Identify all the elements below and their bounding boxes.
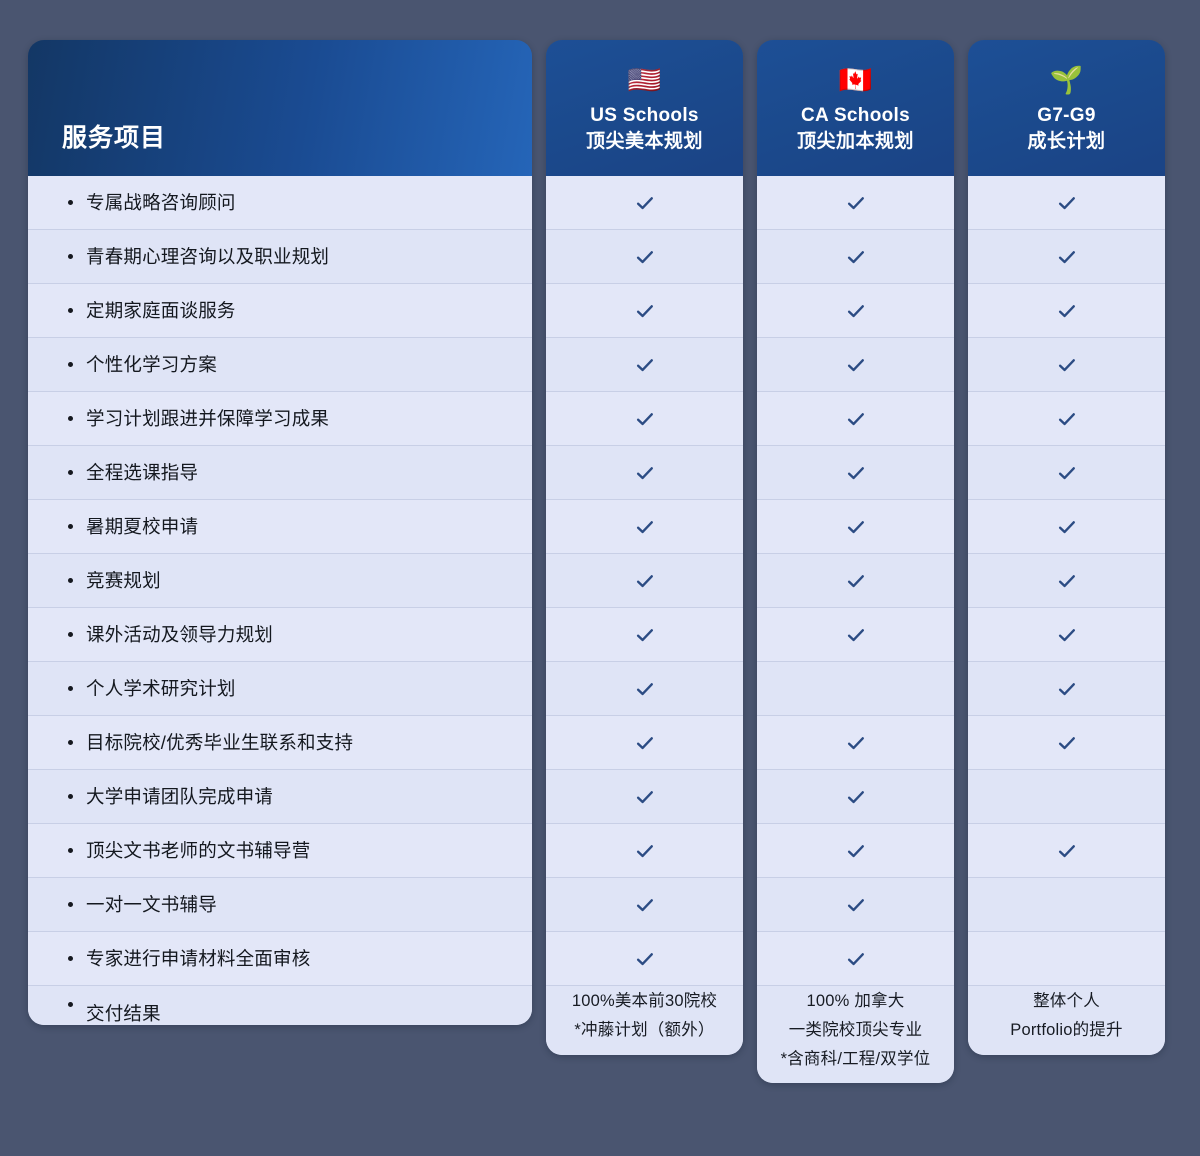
cell-check xyxy=(546,284,743,338)
check-icon xyxy=(845,300,867,322)
feature-row: 个性化学习方案 xyxy=(28,338,532,392)
check-icon xyxy=(845,462,867,484)
features-column-header: 服务项目 xyxy=(28,40,532,176)
cell-check xyxy=(757,392,954,446)
check-icon xyxy=(634,948,656,970)
cell-check xyxy=(968,230,1165,284)
feature-label: 大学申请团队完成申请 xyxy=(86,785,273,808)
canada-flag-icon: 🇨🇦 xyxy=(839,66,873,96)
feature-row: 暑期夏校申请 xyxy=(28,500,532,554)
check-icon xyxy=(845,354,867,376)
feature-label: 全程选课指导 xyxy=(86,461,198,484)
plan-outcome-line: 100%美本前30院校 xyxy=(572,992,717,1012)
check-icon xyxy=(634,246,656,268)
check-icon xyxy=(634,354,656,376)
plan-outcome-line: *冲藤计划（额外） xyxy=(574,1021,714,1041)
check-icon xyxy=(1056,624,1078,646)
check-icon xyxy=(634,840,656,862)
seedling-icon: 🌱 xyxy=(1050,66,1084,96)
feature-label: 一对一文书辅导 xyxy=(86,893,217,916)
cell-check xyxy=(968,176,1165,230)
features-column: 服务项目 专属战略咨询顾问青春期心理咨询以及职业规划定期家庭面谈服务个性化学习方… xyxy=(28,40,532,1025)
plan-column-ca-schools[interactable]: 🇨🇦CA Schools顶尖加本规划100% 加拿大一类院校顶尖专业*含商科/工… xyxy=(757,40,954,1083)
cell-check xyxy=(968,824,1165,878)
plan-outcome-cell: 整体个人Portfolio的提升 xyxy=(968,986,1165,1055)
plan-outcome-line: Portfolio的提升 xyxy=(1010,1021,1122,1041)
feature-row: 青春期心理咨询以及职业规划 xyxy=(28,230,532,284)
feature-label: 个人学术研究计划 xyxy=(86,677,236,700)
plan-outcome-cell: 100%美本前30院校*冲藤计划（额外） xyxy=(546,986,743,1055)
page-title: 服务项目 xyxy=(62,118,166,154)
feature-label: 专家进行申请材料全面审核 xyxy=(86,947,310,970)
bullet-icon xyxy=(68,362,73,367)
plan-title-cn: 顶尖美本规划 xyxy=(586,130,703,155)
bullet-icon xyxy=(68,308,73,313)
check-icon xyxy=(1056,516,1078,538)
cell-check xyxy=(968,662,1165,716)
plan-header: 🌱G7-G9成长计划 xyxy=(968,40,1165,176)
plan-header: 🇨🇦CA Schools顶尖加本规划 xyxy=(757,40,954,176)
feature-label: 顶尖文书老师的文书辅导营 xyxy=(86,839,310,862)
check-icon xyxy=(634,300,656,322)
check-icon xyxy=(1056,732,1078,754)
check-icon xyxy=(634,894,656,916)
cell-check xyxy=(757,446,954,500)
feature-row: 专属战略咨询顾问 xyxy=(28,176,532,230)
feature-row: 交付结果 xyxy=(28,986,532,1025)
bullet-icon xyxy=(68,200,73,205)
empty-marker xyxy=(1056,894,1078,916)
check-icon xyxy=(1056,300,1078,322)
check-icon xyxy=(845,840,867,862)
check-icon xyxy=(845,894,867,916)
cell-empty xyxy=(968,770,1165,824)
cell-check xyxy=(757,716,954,770)
plan-header: 🇺🇸US Schools顶尖美本规划 xyxy=(546,40,743,176)
check-icon xyxy=(634,192,656,214)
check-icon xyxy=(1056,462,1078,484)
check-icon xyxy=(845,192,867,214)
bullet-icon xyxy=(68,902,73,907)
cell-check xyxy=(757,338,954,392)
bullet-icon xyxy=(68,848,73,853)
feature-row: 定期家庭面谈服务 xyxy=(28,284,532,338)
us-flag-icon: 🇺🇸 xyxy=(628,66,662,96)
check-icon xyxy=(1056,246,1078,268)
check-icon xyxy=(634,786,656,808)
bullet-icon xyxy=(68,686,73,691)
empty-marker xyxy=(845,678,867,700)
bullet-icon xyxy=(68,632,73,637)
feature-label: 定期家庭面谈服务 xyxy=(86,299,236,322)
cell-check xyxy=(546,338,743,392)
cell-check xyxy=(757,824,954,878)
cell-check xyxy=(968,446,1165,500)
plan-outcome-line: 100% 加拿大 xyxy=(807,992,905,1012)
plan-title-en: CA Schools xyxy=(801,105,910,128)
cell-check xyxy=(546,230,743,284)
feature-row: 一对一文书辅导 xyxy=(28,878,532,932)
feature-label: 目标院校/优秀毕业生联系和支持 xyxy=(86,731,353,754)
check-icon xyxy=(634,462,656,484)
check-icon xyxy=(845,948,867,970)
cell-check xyxy=(968,608,1165,662)
feature-label: 暑期夏校申请 xyxy=(86,515,198,538)
plan-outcome-cell: 100% 加拿大一类院校顶尖专业*含商科/工程/双学位 xyxy=(757,986,954,1083)
cell-check xyxy=(546,500,743,554)
bullet-icon xyxy=(68,740,73,745)
cell-empty xyxy=(757,662,954,716)
check-icon xyxy=(634,570,656,592)
cell-check xyxy=(968,554,1165,608)
comparison-table: 服务项目 专属战略咨询顾问青春期心理咨询以及职业规划定期家庭面谈服务个性化学习方… xyxy=(0,0,1200,1156)
cell-check xyxy=(757,500,954,554)
check-icon xyxy=(1056,408,1078,430)
plan-outcome-line: *含商科/工程/双学位 xyxy=(781,1050,931,1070)
feature-row: 目标院校/优秀毕业生联系和支持 xyxy=(28,716,532,770)
cell-check xyxy=(546,554,743,608)
cell-check xyxy=(546,878,743,932)
bullet-icon xyxy=(68,1002,73,1007)
check-icon xyxy=(634,624,656,646)
plan-cells: 100% 加拿大一类院校顶尖专业*含商科/工程/双学位 xyxy=(757,176,954,1083)
check-icon xyxy=(845,246,867,268)
bullet-icon xyxy=(68,524,73,529)
plan-cells: 100%美本前30院校*冲藤计划（额外） xyxy=(546,176,743,1055)
cell-check xyxy=(757,230,954,284)
plan-cells: 整体个人Portfolio的提升 xyxy=(968,176,1165,1055)
cell-check xyxy=(757,554,954,608)
cell-check xyxy=(968,500,1165,554)
feature-row: 个人学术研究计划 xyxy=(28,662,532,716)
feature-label: 交付结果 xyxy=(86,1002,161,1025)
cell-check xyxy=(757,608,954,662)
bullet-icon xyxy=(68,956,73,961)
cell-check xyxy=(968,284,1165,338)
feature-label: 个性化学习方案 xyxy=(86,353,217,376)
feature-row: 顶尖文书老师的文书辅导营 xyxy=(28,824,532,878)
check-icon xyxy=(1056,354,1078,376)
feature-row: 课外活动及领导力规划 xyxy=(28,608,532,662)
feature-label: 专属战略咨询顾问 xyxy=(86,191,236,214)
cell-check xyxy=(546,392,743,446)
check-icon xyxy=(634,732,656,754)
plan-outcome-line: 整体个人 xyxy=(1033,992,1100,1012)
feature-label: 青春期心理咨询以及职业规划 xyxy=(86,245,329,268)
plan-column-g7-g9[interactable]: 🌱G7-G9成长计划整体个人Portfolio的提升 xyxy=(968,40,1165,1055)
feature-label: 课外活动及领导力规划 xyxy=(86,623,273,646)
cell-check xyxy=(546,446,743,500)
empty-marker xyxy=(1056,948,1078,970)
plan-title-cn: 顶尖加本规划 xyxy=(797,130,914,155)
check-icon xyxy=(634,408,656,430)
cell-check xyxy=(757,878,954,932)
check-icon xyxy=(1056,570,1078,592)
check-icon xyxy=(634,678,656,700)
feature-row: 竞赛规划 xyxy=(28,554,532,608)
cell-check xyxy=(546,932,743,986)
cell-check xyxy=(757,770,954,824)
check-icon xyxy=(845,408,867,430)
check-icon xyxy=(1056,678,1078,700)
check-icon xyxy=(845,624,867,646)
bullet-icon xyxy=(68,254,73,259)
feature-row: 学习计划跟进并保障学习成果 xyxy=(28,392,532,446)
cell-check xyxy=(968,716,1165,770)
cell-empty xyxy=(968,932,1165,986)
cell-check xyxy=(757,284,954,338)
cell-check xyxy=(546,662,743,716)
cell-check xyxy=(757,176,954,230)
feature-label: 学习计划跟进并保障学习成果 xyxy=(86,407,329,430)
check-icon xyxy=(1056,840,1078,862)
check-icon xyxy=(1056,192,1078,214)
cell-check xyxy=(546,770,743,824)
feature-row: 专家进行申请材料全面审核 xyxy=(28,932,532,986)
cell-empty xyxy=(968,878,1165,932)
check-icon xyxy=(845,786,867,808)
cell-check xyxy=(968,392,1165,446)
plan-title-en: US Schools xyxy=(590,105,699,128)
bullet-icon xyxy=(68,794,73,799)
check-icon xyxy=(845,516,867,538)
check-icon xyxy=(634,516,656,538)
check-icon xyxy=(845,570,867,592)
cell-check xyxy=(546,608,743,662)
cell-check xyxy=(546,716,743,770)
plan-title-cn: 成长计划 xyxy=(1027,130,1105,155)
bullet-icon xyxy=(68,470,73,475)
feature-row: 大学申请团队完成申请 xyxy=(28,770,532,824)
cell-check xyxy=(968,338,1165,392)
bullet-icon xyxy=(68,578,73,583)
empty-marker xyxy=(1056,786,1078,808)
check-icon xyxy=(845,732,867,754)
bullet-icon xyxy=(68,416,73,421)
cell-check xyxy=(757,932,954,986)
features-list: 专属战略咨询顾问青春期心理咨询以及职业规划定期家庭面谈服务个性化学习方案学习计划… xyxy=(28,176,532,1025)
plan-title-en: G7-G9 xyxy=(1037,105,1096,128)
feature-label: 竞赛规划 xyxy=(86,569,161,592)
cell-check xyxy=(546,824,743,878)
feature-row: 全程选课指导 xyxy=(28,446,532,500)
plan-column-us-schools[interactable]: 🇺🇸US Schools顶尖美本规划100%美本前30院校*冲藤计划（额外） xyxy=(546,40,743,1055)
cell-check xyxy=(546,176,743,230)
plan-outcome-line: 一类院校顶尖专业 xyxy=(789,1021,923,1041)
